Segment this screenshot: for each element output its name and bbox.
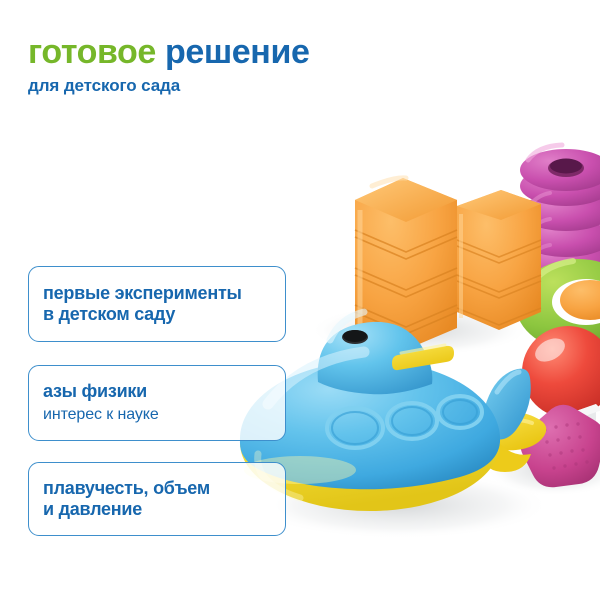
callout-line-2: интерес к науке xyxy=(43,405,271,424)
callout-line-1: азы физики xyxy=(43,381,271,402)
poster-canvas: готовое решение для детского сада первые… xyxy=(0,0,600,600)
callout-line-2: в детском саду xyxy=(43,304,271,325)
callout-list: первые эксперименты в детском саду азы ф… xyxy=(0,0,600,600)
callout-line-2: и давление xyxy=(43,499,271,520)
callout-buoyancy-volume-pressure: плавучесть, объем и давление xyxy=(28,462,286,536)
callout-line-1: первые эксперименты xyxy=(43,283,271,304)
callout-physics-basics: азы физики интерес к науке xyxy=(28,365,286,441)
callout-first-experiments: первые эксперименты в детском саду xyxy=(28,266,286,342)
callout-line-1: плавучесть, объем xyxy=(43,478,271,499)
